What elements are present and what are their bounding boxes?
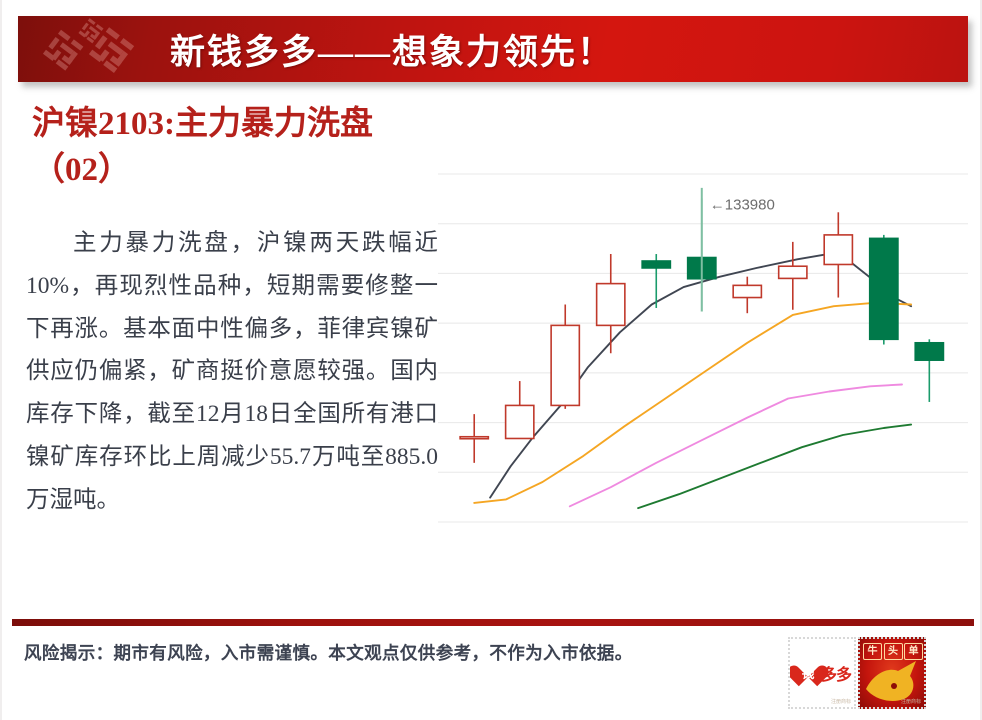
stamp-tiny-text: 注册商标 — [831, 698, 851, 705]
banner-title: 新钱多多——想象力领先！ — [170, 16, 614, 82]
article-headline: 沪镍2103:主力暴力洗盘（02） — [32, 102, 432, 193]
bull-char-row: 牛 头 单 — [863, 643, 923, 660]
header-banner: 新钱多多——想象力领先！ — [18, 16, 968, 82]
footer-disclaimer: 风险揭示：期市有风险，入市需谨慎。本文观点仅供参考，不作为入市依据。 — [24, 640, 633, 665]
bull-char-1: 牛 — [863, 643, 882, 660]
candlestick-chart-svg: ←133980 — [438, 168, 968, 528]
svg-text:←133980: ←133980 — [710, 196, 775, 213]
slide-page: 新钱多多——想象力领先！ 沪镍2103:主力暴力洗盘（02） 主力暴力洗盘，沪镍… — [0, 0, 982, 720]
niutoudan-logo-stamp: 牛 头 单 注册商标 — [858, 637, 926, 709]
bull-head-icon — [864, 659, 922, 703]
candlestick-chart: ←133980 — [438, 168, 968, 528]
footer-divider — [12, 619, 974, 626]
stamp-tiny-text: 注册商标 — [901, 698, 921, 705]
stamp-heart-char: 钱 — [795, 663, 821, 682]
bull-char-3: 单 — [904, 643, 923, 660]
logo-stamps: 钱 多多 注册商标 牛 头 单 注册商标 — [788, 637, 928, 709]
diamond-knot-emblem-icon — [36, 18, 152, 80]
bull-char-2: 头 — [884, 643, 903, 660]
stamp-word: 多多 — [821, 661, 851, 685]
qianduoduo-logo-stamp: 钱 多多 注册商标 — [788, 637, 856, 709]
article-body: 主力暴力洗盘，沪镍两天跌幅近10%，再现烈性品种，短期需要修整一下再涨。基本面中… — [26, 222, 438, 521]
